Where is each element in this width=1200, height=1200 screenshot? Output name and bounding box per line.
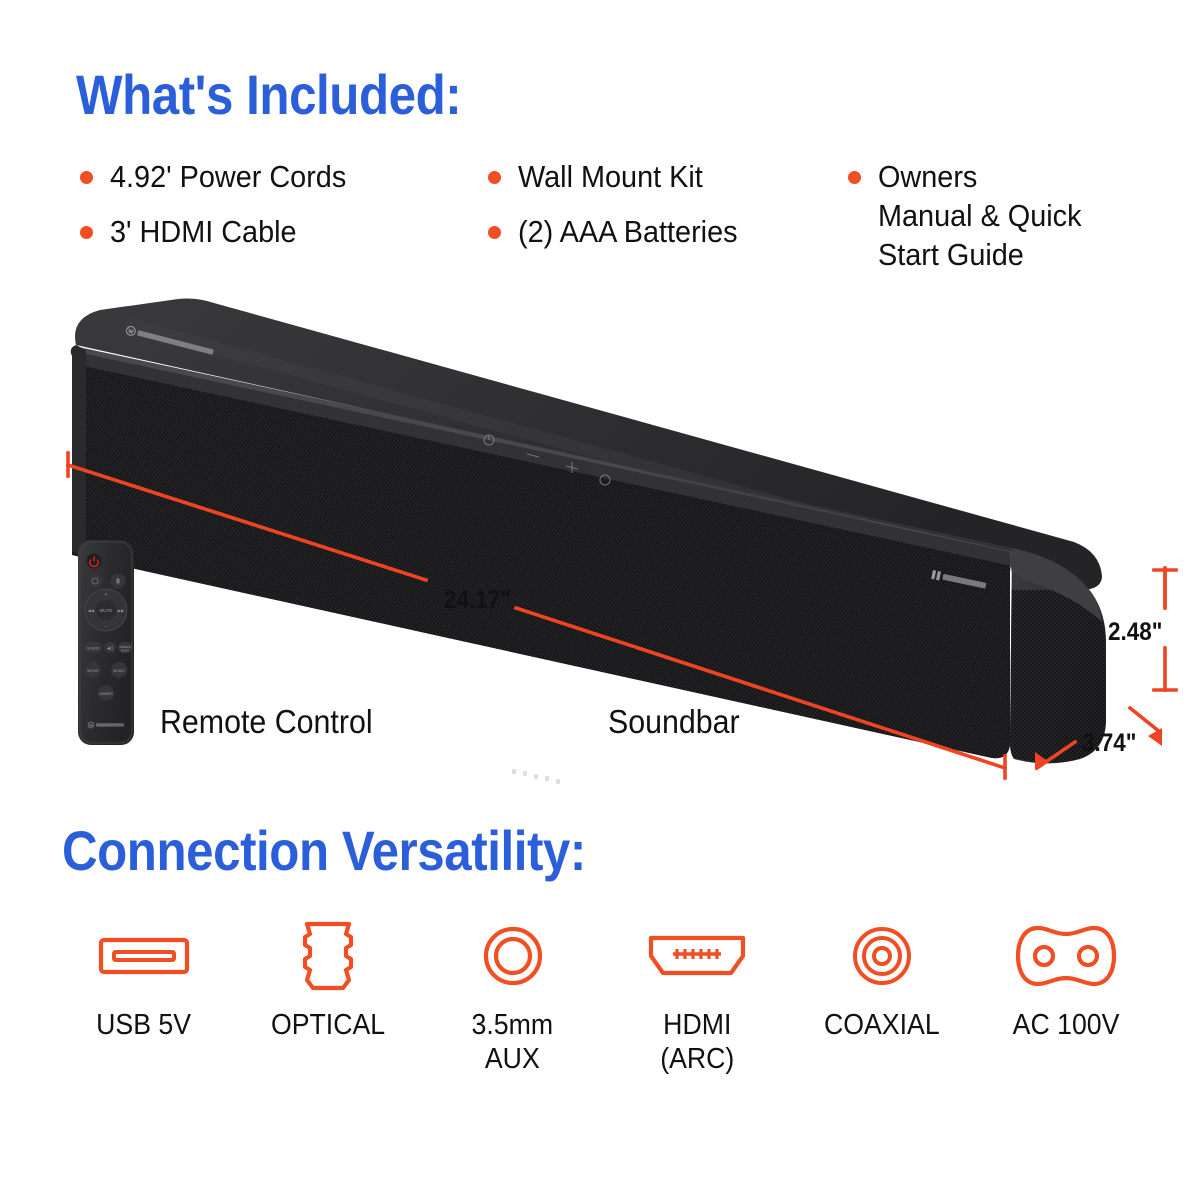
- svg-text:+: +: [105, 592, 108, 598]
- connection-item-ac: AC 100V: [978, 918, 1154, 1042]
- connection-label: AC 100V: [1013, 1008, 1120, 1042]
- connection-versatility-heading: Connection Versatility:: [62, 818, 586, 883]
- bullet-dot-icon: [848, 171, 861, 184]
- dimension-depth-label: 3.74": [1082, 729, 1136, 758]
- aux-jack-icon: [481, 918, 545, 994]
- infographic-page: What's Included: 4.92' Power Cords 3' HD…: [0, 0, 1200, 1200]
- svg-text:MUTE: MUTE: [99, 608, 112, 613]
- connection-label: OPTICAL: [271, 1008, 385, 1042]
- list-item: Owners Manual & Quick Start Guide: [848, 158, 1178, 274]
- list-item: Wall Mount Kit: [488, 158, 828, 197]
- connection-label: USB 5V: [97, 1008, 192, 1042]
- remote-source-button: [88, 574, 103, 589]
- svg-text:−: −: [105, 624, 108, 630]
- connection-icons-row: USB 5V OPTICAL 3.5mm AUX: [56, 918, 1154, 1098]
- soundbar-led-indicators: [512, 769, 560, 784]
- connection-item-coaxial: COAXIAL: [794, 918, 970, 1042]
- connection-item-usb: USB 5V: [56, 918, 232, 1042]
- list-item: 3' HDMI Cable: [80, 213, 480, 252]
- included-column-2: Wall Mount Kit (2) AAA Batteries: [488, 158, 828, 268]
- connection-label: COAXIAL: [824, 1008, 940, 1042]
- included-column-3: Owners Manual & Quick Start Guide: [848, 158, 1178, 290]
- included-column-1: 4.92' Power Cords 3' HDMI Cable: [80, 158, 480, 268]
- svg-text:DIMMER: DIMMER: [99, 692, 113, 696]
- soundbar-caption: Soundbar: [608, 703, 740, 741]
- included-item-label: (2) AAA Batteries: [518, 213, 738, 252]
- included-item-label: 4.92' Power Cords: [110, 158, 346, 197]
- bullet-dot-icon: [80, 171, 93, 184]
- hdmi-port-icon: [643, 918, 751, 994]
- included-item-label: Wall Mount Kit: [518, 158, 703, 197]
- svg-text:BASS: BASS: [121, 649, 129, 653]
- connection-item-hdmi: HDMI (ARC): [609, 918, 785, 1076]
- svg-text:◀◀: ◀◀: [88, 608, 95, 613]
- remote-function-strip: SOUND ◀)) TREBLE BASS: [84, 642, 132, 653]
- bullet-dot-icon: [80, 226, 93, 239]
- connection-label: HDMI (ARC): [660, 1008, 734, 1076]
- svg-text:▶▶: ▶▶: [118, 608, 125, 613]
- connection-item-optical: OPTICAL: [240, 918, 416, 1042]
- included-item-label: 3' HDMI Cable: [110, 213, 297, 252]
- svg-text:MOVIE: MOVIE: [87, 669, 99, 673]
- included-items-list: 4.92' Power Cords 3' HDMI Cable Wall Mou…: [80, 158, 1160, 293]
- coaxial-port-icon: [850, 918, 914, 994]
- usb-port-icon: [98, 918, 190, 994]
- ac-power-icon: [1014, 918, 1118, 994]
- included-item-label: Owners Manual & Quick Start Guide: [878, 158, 1082, 274]
- list-item: (2) AAA Batteries: [488, 213, 828, 252]
- dimension-length-label: 24.17": [444, 586, 511, 615]
- whats-included-heading: What's Included:: [76, 62, 461, 127]
- bullet-dot-icon: [488, 171, 501, 184]
- svg-text:◀)): ◀)): [107, 645, 114, 650]
- remote-control-caption: Remote Control: [160, 703, 373, 741]
- optical-toslink-icon: [291, 918, 365, 994]
- list-item: 4.92' Power Cords: [80, 158, 480, 197]
- bullet-dot-icon: [488, 226, 501, 239]
- svg-text:MUSIC: MUSIC: [113, 669, 125, 673]
- connection-item-aux: 3.5mm AUX: [425, 918, 601, 1076]
- svg-text:SOUND: SOUND: [87, 646, 100, 650]
- connection-label: 3.5mm AUX: [472, 1008, 554, 1076]
- remote-control-graphic: MUTE + − ◀◀ ▶▶ SOUND ◀)) TREBLE BASS MOV: [78, 540, 134, 745]
- dimension-height-label: 2.48": [1108, 618, 1162, 647]
